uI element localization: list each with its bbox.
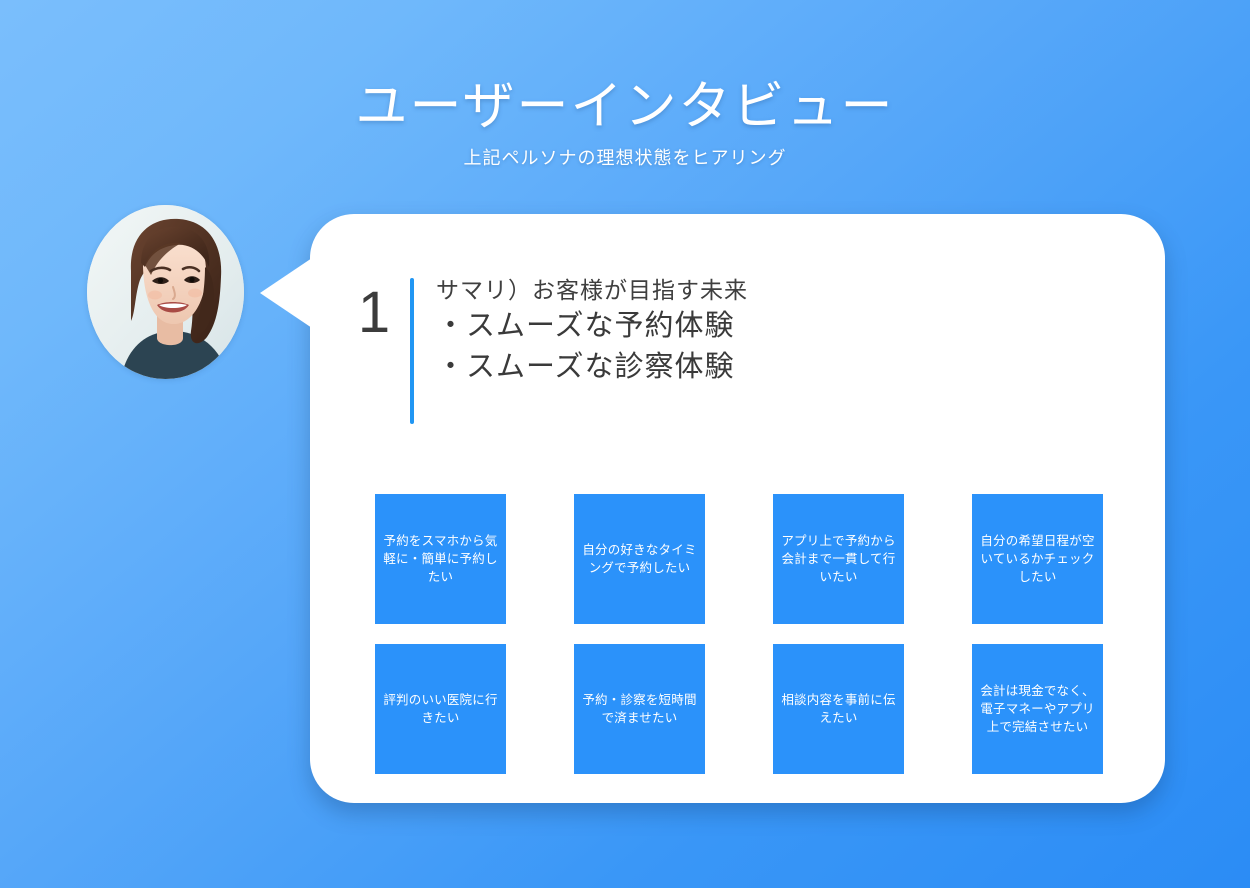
insight-card-label: 会計は現金でなく、電子マネーやアプリ上で完結させたい <box>976 682 1099 736</box>
insight-card-label: 予約・診察を短時間で済ませたい <box>578 691 701 727</box>
page-subtitle: 上記ペルソナの理想状態をヒアリング <box>0 144 1250 170</box>
insight-card[interactable]: 評判のいい医院に行きたい <box>375 644 506 774</box>
insight-card-grid: 予約をスマホから気軽に・簡単に予約したい 自分の好きなタイミングで予約したい ア… <box>375 494 1103 774</box>
speech-bubble: 1 サマリ）お客様が目指す未来 ・スムーズな予約体験 ・スムーズな診察体験 予約… <box>310 214 1165 803</box>
summary-text: サマリ）お客様が目指す未来 ・スムーズな予約体験 ・スムーズな診察体験 <box>436 266 748 388</box>
page-title: ユーザーインタビュー <box>0 78 1250 138</box>
insight-card[interactable]: アプリ上で予約から会計まで一貫して行いたい <box>773 494 904 624</box>
insight-card-label: 自分の希望日程が空いているかチェックしたい <box>976 532 1099 586</box>
insight-card[interactable]: 会計は現金でなく、電子マネーやアプリ上で完結させたい <box>972 644 1103 774</box>
insight-card-label: 予約をスマホから気軽に・簡単に予約したい <box>379 532 502 586</box>
summary-accent-rule <box>410 278 414 424</box>
insight-card[interactable]: 相談内容を事前に伝えたい <box>773 644 904 774</box>
summary-heading: サマリ）お客様が目指す未来 <box>436 276 748 306</box>
summary-number: 1 <box>346 266 402 342</box>
insight-card-label: 自分の好きなタイミングで予約したい <box>578 541 701 577</box>
summary-item-2: ・スムーズな診察体験 <box>436 347 748 388</box>
summary-item-1: ・スムーズな予約体験 <box>436 306 748 347</box>
speech-bubble-tail <box>260 258 312 328</box>
summary-block: 1 サマリ）お客様が目指す未来 ・スムーズな予約体験 ・スムーズな診察体験 <box>346 266 748 424</box>
insight-card-label: アプリ上で予約から会計まで一貫して行いたい <box>777 532 900 586</box>
slide-header: ユーザーインタビュー 上記ペルソナの理想状態をヒアリング <box>0 78 1250 170</box>
insight-card[interactable]: 自分の希望日程が空いているかチェックしたい <box>972 494 1103 624</box>
insight-card-label: 相談内容を事前に伝えたい <box>777 691 900 727</box>
avatar <box>87 205 244 379</box>
insight-card[interactable]: 自分の好きなタイミングで予約したい <box>574 494 705 624</box>
user-photo-avatar-icon <box>87 205 244 379</box>
insight-card[interactable]: 予約をスマホから気軽に・簡単に予約したい <box>375 494 506 624</box>
insight-card[interactable]: 予約・診察を短時間で済ませたい <box>574 644 705 774</box>
insight-card-label: 評判のいい医院に行きたい <box>379 691 502 727</box>
